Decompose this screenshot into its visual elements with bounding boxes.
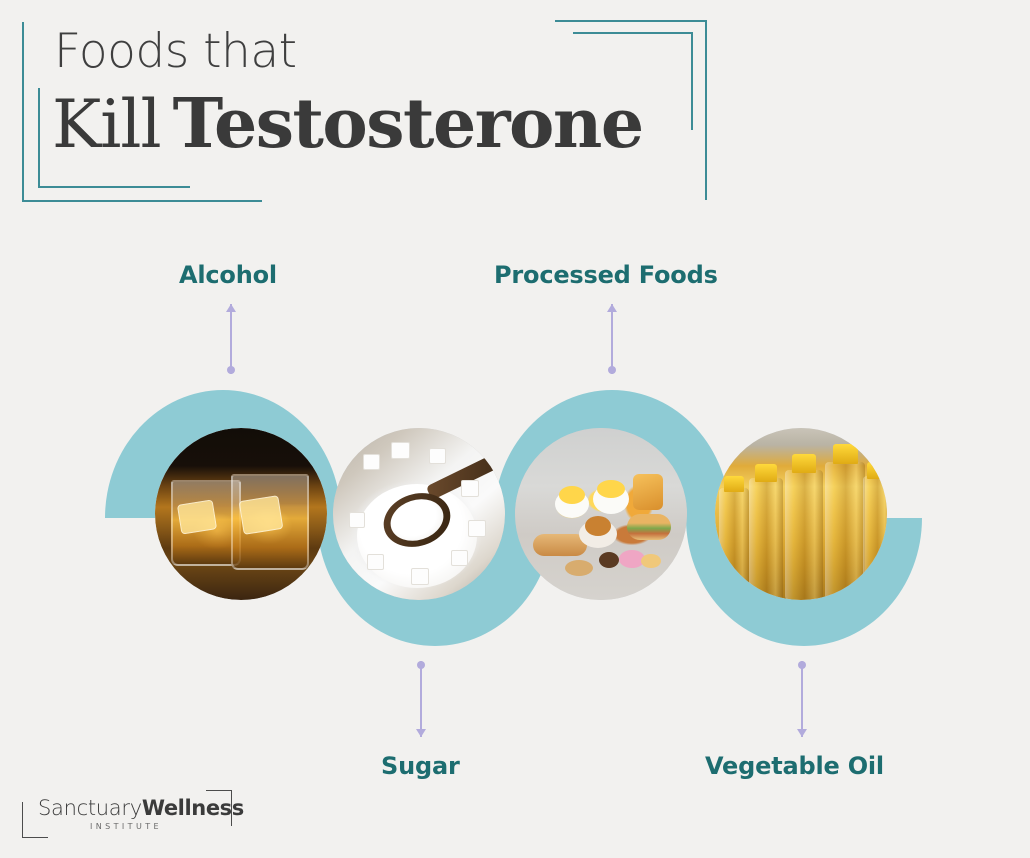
sugar-spoon-photo — [333, 428, 505, 600]
connector-arrow-sugar — [414, 661, 428, 737]
logo-subtitle: INSTITUTE — [90, 822, 162, 831]
french-fries-shape — [633, 474, 663, 510]
food-image-vegetable-oil — [715, 428, 887, 600]
fried-chicken-shape — [585, 516, 611, 536]
oil-cap-3-shape — [792, 454, 816, 473]
infographic-canvas: Foods that KillTestosterone — [0, 0, 1030, 858]
onion-rings-2-shape — [597, 480, 625, 498]
oil-bottles-photo — [715, 428, 887, 600]
burger-shape — [627, 514, 671, 540]
oil-bottle-3-shape — [785, 470, 823, 600]
connector-line — [801, 661, 803, 737]
connector-line — [420, 661, 422, 737]
oil-cap-4-shape — [833, 444, 858, 464]
arrow-up-icon — [226, 304, 236, 312]
sugar-cube-8-shape — [367, 554, 384, 570]
arrow-down-icon — [797, 729, 807, 737]
food-label-sugar: Sugar — [381, 752, 460, 780]
snack-shape — [641, 554, 661, 568]
sugar-cube-7-shape — [411, 568, 429, 585]
sugar-cube-5-shape — [468, 520, 486, 537]
connector-dot — [608, 366, 616, 374]
connector-dot — [227, 366, 235, 374]
connector-arrow-processed-foods — [605, 304, 619, 374]
arrow-up-icon — [607, 304, 617, 312]
arrow-down-icon — [416, 729, 426, 737]
sugar-cube-9-shape — [349, 512, 365, 528]
ice-cube-left-shape — [177, 499, 217, 534]
cookies-shape — [565, 560, 593, 576]
logo-wordmark: SanctuaryWellness — [38, 796, 244, 820]
oil-bottle-4-shape — [825, 462, 865, 600]
oil-bottle-1-shape — [719, 488, 749, 600]
food-image-sugar — [333, 428, 505, 600]
food-label-alcohol: Alcohol — [179, 261, 277, 289]
food-label-vegetable-oil: Vegetable Oil — [705, 752, 884, 780]
sugar-cube-4-shape — [461, 480, 479, 497]
connector-line — [230, 304, 232, 374]
sugar-cube-2-shape — [391, 442, 410, 459]
connector-arrow-alcohol — [224, 304, 238, 374]
whisky-glasses-photo — [155, 428, 327, 600]
oil-bottle-2-shape — [749, 478, 783, 600]
ice-cube-right-shape — [239, 495, 284, 535]
oil-cap-5-shape — [867, 462, 887, 479]
connector-dot — [417, 661, 425, 669]
junk-food-spread-photo — [515, 428, 687, 600]
oil-cap-2-shape — [755, 464, 777, 482]
food-image-processed-foods — [515, 428, 687, 600]
onion-rings-1-shape — [559, 486, 585, 504]
chocolate-shape — [599, 552, 619, 568]
sugar-cube-1-shape — [363, 454, 380, 470]
oil-cap-1-shape — [724, 476, 744, 492]
brand-logo[interactable]: SanctuaryWellness INSTITUTE — [22, 790, 232, 838]
connector-arrow-vegetable-oil — [795, 661, 809, 737]
food-items-band: Alcohol Processed Foods Sugar Vegetable … — [0, 0, 1030, 858]
oil-bottle-5-shape — [863, 476, 887, 600]
logo-name-bold: Wellness — [142, 796, 244, 820]
sugar-cube-3-shape — [429, 448, 446, 464]
connector-dot — [798, 661, 806, 669]
sugar-cube-6-shape — [451, 550, 468, 566]
food-image-alcohol — [155, 428, 327, 600]
food-label-processed-foods: Processed Foods — [494, 261, 718, 289]
connector-line — [611, 304, 613, 374]
logo-name-light: Sanctuary — [38, 796, 142, 820]
